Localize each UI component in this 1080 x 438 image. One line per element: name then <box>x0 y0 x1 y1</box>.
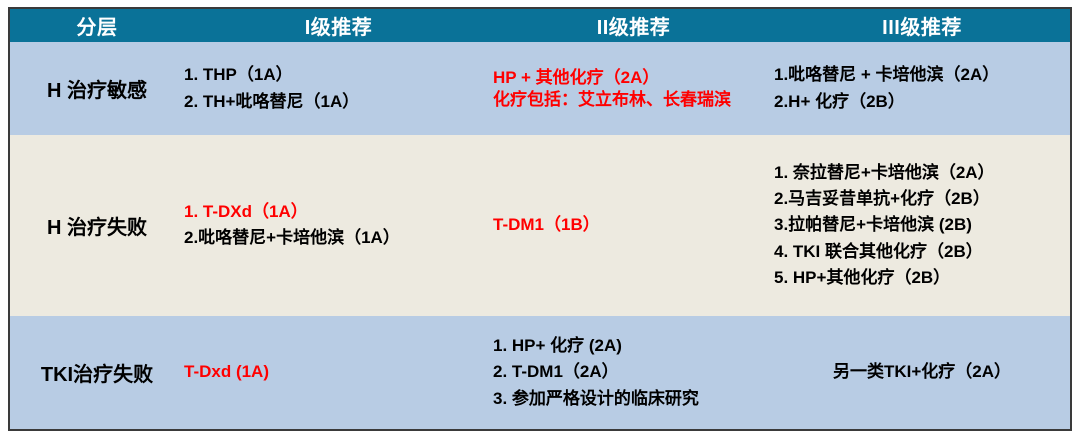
her2-treatment-recommendation-table: 分层 I级推荐 II级推荐 III级推荐 H 治疗敏感 1. THP（1A） 2… <box>10 9 1070 429</box>
level3-recommendations: 另一类TKI+化疗（2A） <box>774 316 1070 429</box>
table-row: TKI治疗失败 T-Dxd (1A) 1. HP+ 化疗 (2A) 2. T-D… <box>10 316 1070 429</box>
recommendation-line: 1. 奈拉替尼+卡培他滨（2A） <box>774 160 1070 186</box>
table-body: H 治疗敏感 1. THP（1A） 2. TH+吡咯替尼（1A） HP + 其他… <box>10 42 1070 429</box>
level3-recommendations: 1.吡咯替尼 + 卡培他滨（2A） 2.H+ 化疗（2B） <box>774 42 1070 135</box>
level1-recommendations: T-Dxd (1A) <box>184 316 493 429</box>
table-row: H 治疗失败 1. T-DXd（1A） 2.吡咯替尼+卡培他滨（1A） T-DM… <box>10 135 1070 315</box>
column-header-level2: II级推荐 <box>493 9 774 42</box>
level2-recommendations: HP + 其他化疗（2A） 化疗包括：艾立布林、长春瑞滨 <box>493 42 774 135</box>
recommendation-line: T-DM1（1B） <box>493 212 774 238</box>
table-header: 分层 I级推荐 II级推荐 III级推荐 <box>10 9 1070 42</box>
recommendation-line: 化疗包括：艾立布林、长春瑞滨 <box>493 89 774 111</box>
column-header-level3: III级推荐 <box>774 9 1070 42</box>
recommendation-line: HP + 其他化疗（2A） <box>493 67 774 89</box>
recommendation-line: 2. TH+吡咯替尼（1A） <box>184 89 493 115</box>
level1-recommendations: 1. T-DXd（1A） 2.吡咯替尼+卡培他滨（1A） <box>184 135 493 315</box>
recommendation-line: 2.H+ 化疗（2B） <box>774 89 1070 115</box>
recommendation-line: 1. HP+ 化疗 (2A) <box>493 333 774 359</box>
recommendation-line: 2.吡咯替尼+卡培他滨（1A） <box>184 225 493 251</box>
level2-recommendations: 1. HP+ 化疗 (2A) 2. T-DM1（2A） 3. 参加严格设计的临床… <box>493 316 774 429</box>
level1-recommendations: 1. THP（1A） 2. TH+吡咯替尼（1A） <box>184 42 493 135</box>
recommendation-line: 1. T-DXd（1A） <box>184 199 493 225</box>
recommendation-line: T-Dxd (1A) <box>184 359 493 385</box>
column-header-level1: I级推荐 <box>184 9 493 42</box>
recommendation-line: 2. T-DM1（2A） <box>493 359 774 385</box>
table-row: H 治疗敏感 1. THP（1A） 2. TH+吡咯替尼（1A） HP + 其他… <box>10 42 1070 135</box>
strata-label: TKI治疗失败 <box>10 316 184 429</box>
strata-label: H 治疗失败 <box>10 135 184 315</box>
recommendation-line: 4. TKI 联合其他化疗（2B） <box>774 239 1070 265</box>
recommendation-line: 5. HP+其他化疗（2B） <box>774 265 1070 291</box>
recommendation-line: 3. 参加严格设计的临床研究 <box>493 386 774 412</box>
header-row: 分层 I级推荐 II级推荐 III级推荐 <box>10 9 1070 42</box>
recommendation-line: 1. THP（1A） <box>184 62 493 88</box>
recommendation-line: 2.马吉妥昔单抗+化疗（2B） <box>774 186 1070 212</box>
strata-label: H 治疗敏感 <box>10 42 184 135</box>
recommendation-line: 另一类TKI+化疗（2A） <box>774 359 1070 385</box>
recommendation-line: 3.拉帕替尼+卡培他滨 (2B) <box>774 212 1070 238</box>
column-header-strata: 分层 <box>10 9 184 42</box>
recommendation-line: 1.吡咯替尼 + 卡培他滨（2A） <box>774 62 1070 88</box>
level3-recommendations: 1. 奈拉替尼+卡培他滨（2A） 2.马吉妥昔单抗+化疗（2B） 3.拉帕替尼+… <box>774 135 1070 315</box>
recommendation-table-container: 分层 I级推荐 II级推荐 III级推荐 H 治疗敏感 1. THP（1A） 2… <box>8 7 1072 431</box>
level2-recommendations: T-DM1（1B） <box>493 135 774 315</box>
